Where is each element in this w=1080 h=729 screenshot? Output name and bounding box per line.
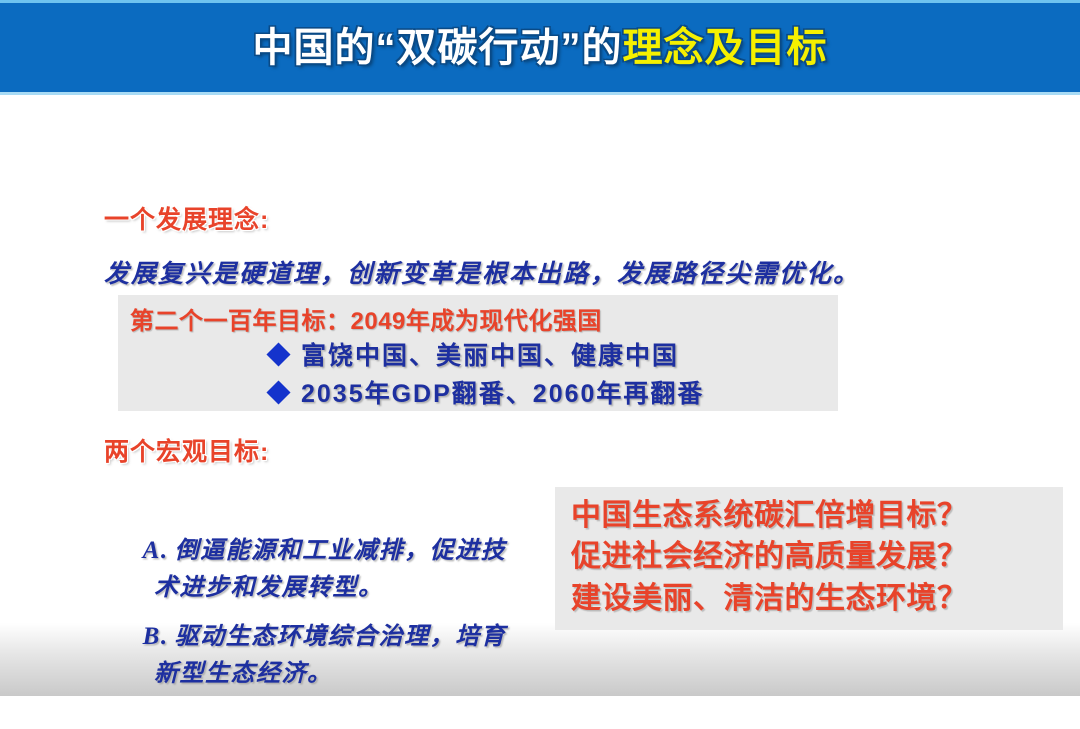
- century-goal-bullet-2-label: 2035年GDP翻番、2060年再翻番: [301, 374, 704, 410]
- guiding-questions-panel: 中国生态系统碳汇倍增目标？ 促进社会经济的高质量发展？ 建设美丽、清洁的生态环境…: [555, 487, 1063, 630]
- guiding-question-2: 促进社会经济的高质量发展？: [571, 536, 1063, 577]
- macro-goal-a-marker: A.: [143, 537, 169, 564]
- century-goal-bullet-1: 富饶中国、美丽中国、健康中国: [270, 336, 679, 372]
- guiding-question-3: 建设美丽、清洁的生态环境？: [571, 578, 1063, 619]
- page-title-primary: 中国的“双碳行动”的: [253, 26, 623, 70]
- diamond-bullet-icon: [266, 342, 290, 366]
- century-goal-title: 第二个一百年目标：2049年成为现代化强国: [130, 301, 602, 336]
- macro-goal-b-line1: 驱动生态环境综合治理，培育: [175, 623, 507, 650]
- century-goal-bullet-1-label: 富饶中国、美丽中国、健康中国: [301, 336, 679, 372]
- macro-goal-b-line2: 新型生态经济。: [154, 660, 333, 687]
- macro-goal-item-b: B.驱动生态环境综合治理，培育新型生态经济。: [110, 582, 506, 729]
- section-heading-development-idea: 一个发展理念:: [104, 200, 269, 236]
- page-title: 中国的“双碳行动”的理念及目标: [253, 28, 828, 68]
- century-goal-bullet-2: 2035年GDP翻番、2060年再翻番: [270, 374, 704, 410]
- century-goal-panel: 第二个一百年目标：2049年成为现代化强国 富饶中国、美丽中国、健康中国 203…: [118, 295, 838, 411]
- slide-content-area: 一个发展理念: 发展复兴是硬道理，创新变革是根本出路，发展路径尖需优化。 第二个…: [0, 95, 1080, 601]
- slide-title-bar: 中国的“双碳行动”的理念及目标: [0, 0, 1080, 95]
- macro-goal-b-marker: B.: [143, 623, 169, 650]
- development-idea-statement: 发展复兴是硬道理，创新变革是根本出路，发展路径尖需优化。: [104, 254, 860, 290]
- section-heading-macro-goals: 两个宏观目标:: [104, 432, 269, 468]
- page-title-accent: 理念及目标: [623, 26, 828, 70]
- macro-goal-a-line1: 倒逼能源和工业减排，促进技: [175, 537, 507, 564]
- guiding-question-1: 中国生态系统碳汇倍增目标？: [571, 495, 1063, 536]
- diamond-bullet-icon: [266, 380, 290, 404]
